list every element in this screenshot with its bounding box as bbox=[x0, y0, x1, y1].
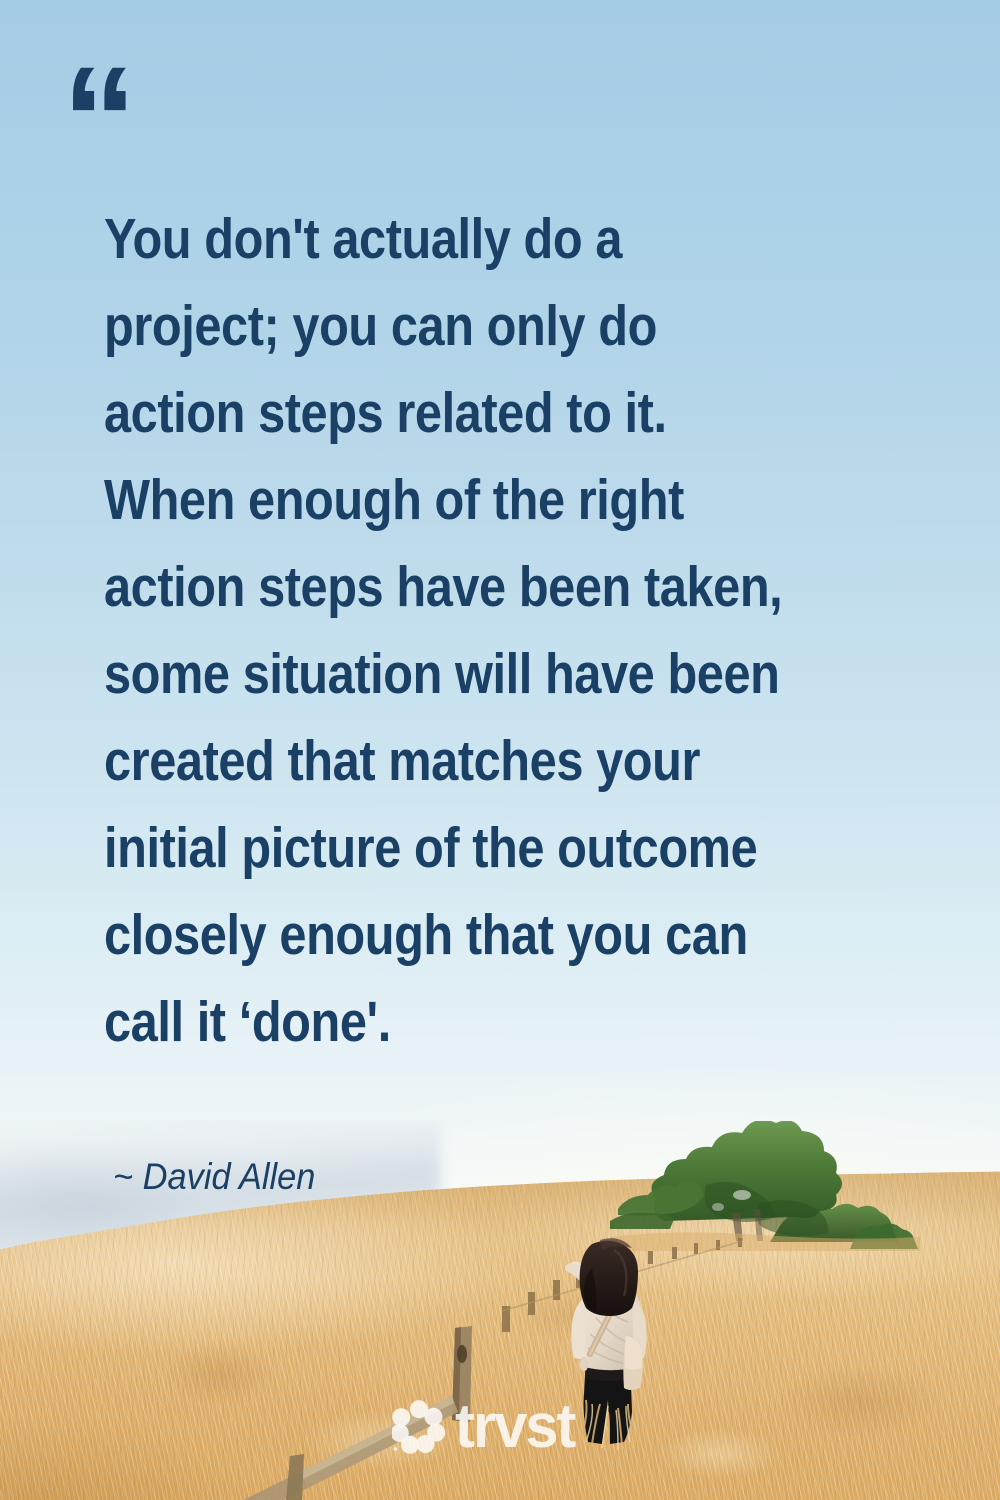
trvst-logo[interactable]: trvst bbox=[392, 1396, 579, 1458]
open-quote-mark: “ bbox=[62, 44, 133, 194]
flower-ring-icon-svg bbox=[392, 1400, 446, 1454]
quote-attribution: ~ David Allen bbox=[113, 1158, 315, 1195]
quote-text: You don't actually do a project; you can… bbox=[104, 196, 814, 1066]
trvst-wordmark: trvst bbox=[455, 1396, 574, 1458]
quote-poster: “ You don't actually do a project; you c… bbox=[0, 0, 1000, 1500]
flower-ring-icon bbox=[392, 1400, 446, 1454]
